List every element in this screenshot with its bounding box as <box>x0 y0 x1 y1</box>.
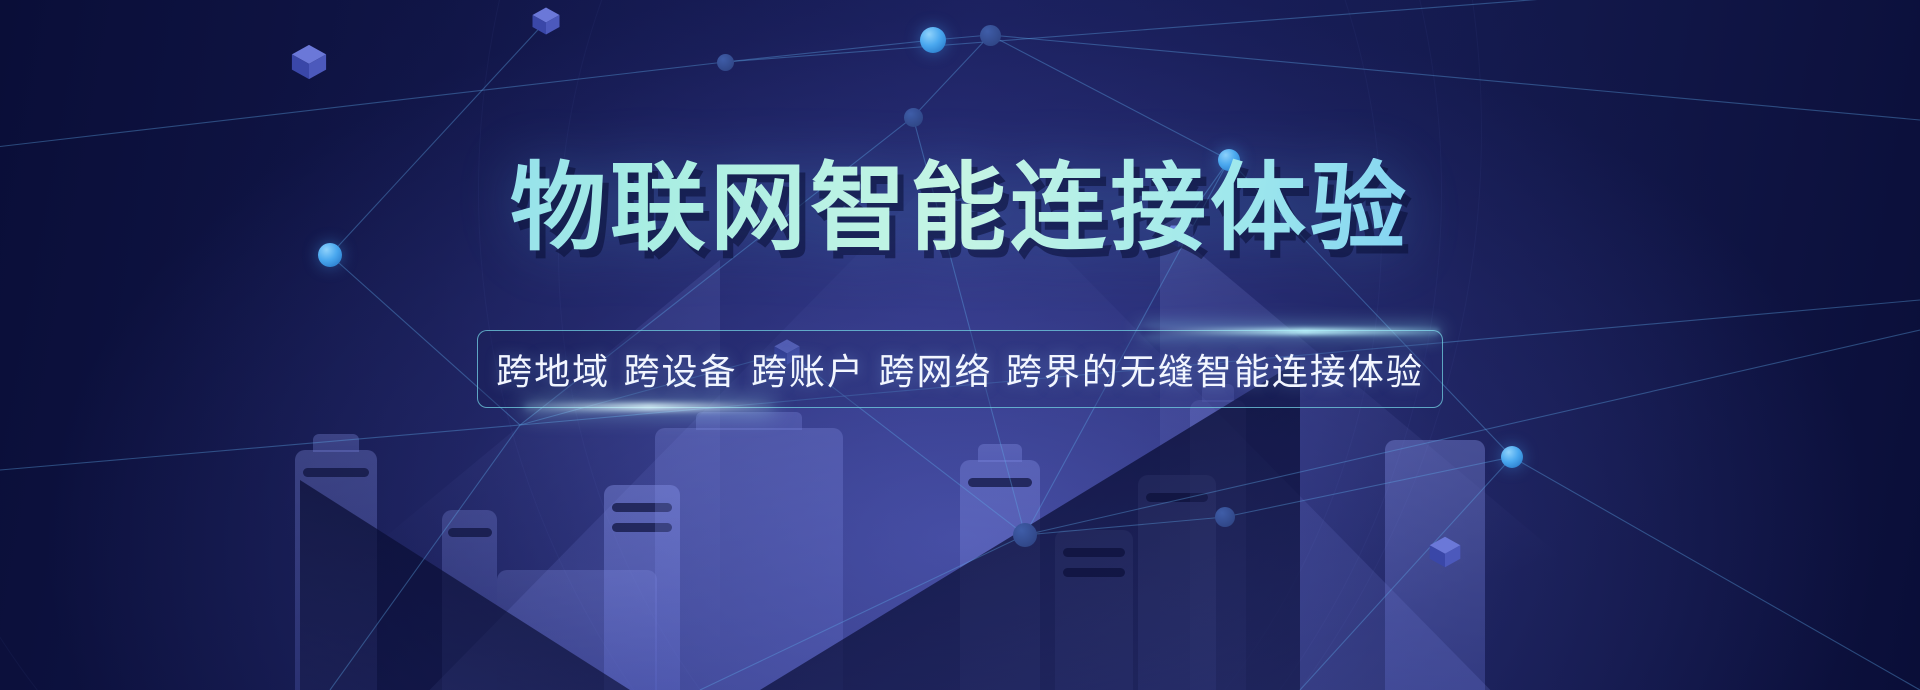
subtitle-container: 跨地域 跨设备 跨账户 跨网络 跨界的无缝智能连接体验 <box>0 330 1920 408</box>
page-title: 物联网智能连接体验 <box>0 158 1920 259</box>
cube-upper-left <box>290 43 328 86</box>
glow-top-right <box>1140 328 1440 335</box>
glow-bottom-left <box>524 403 774 411</box>
cube-far-right <box>1428 535 1462 574</box>
cube-upper-mid <box>531 6 561 41</box>
subtitle-box: 跨地域 跨设备 跨账户 跨网络 跨界的无缝智能连接体验 <box>477 330 1443 408</box>
hero-banner: 物联网智能连接体验 跨地域 跨设备 跨账户 跨网络 跨界的无缝智能连接体验 <box>0 0 1920 690</box>
subtitle-text: 跨地域 跨设备 跨账户 跨网络 跨界的无缝智能连接体验 <box>496 343 1424 395</box>
